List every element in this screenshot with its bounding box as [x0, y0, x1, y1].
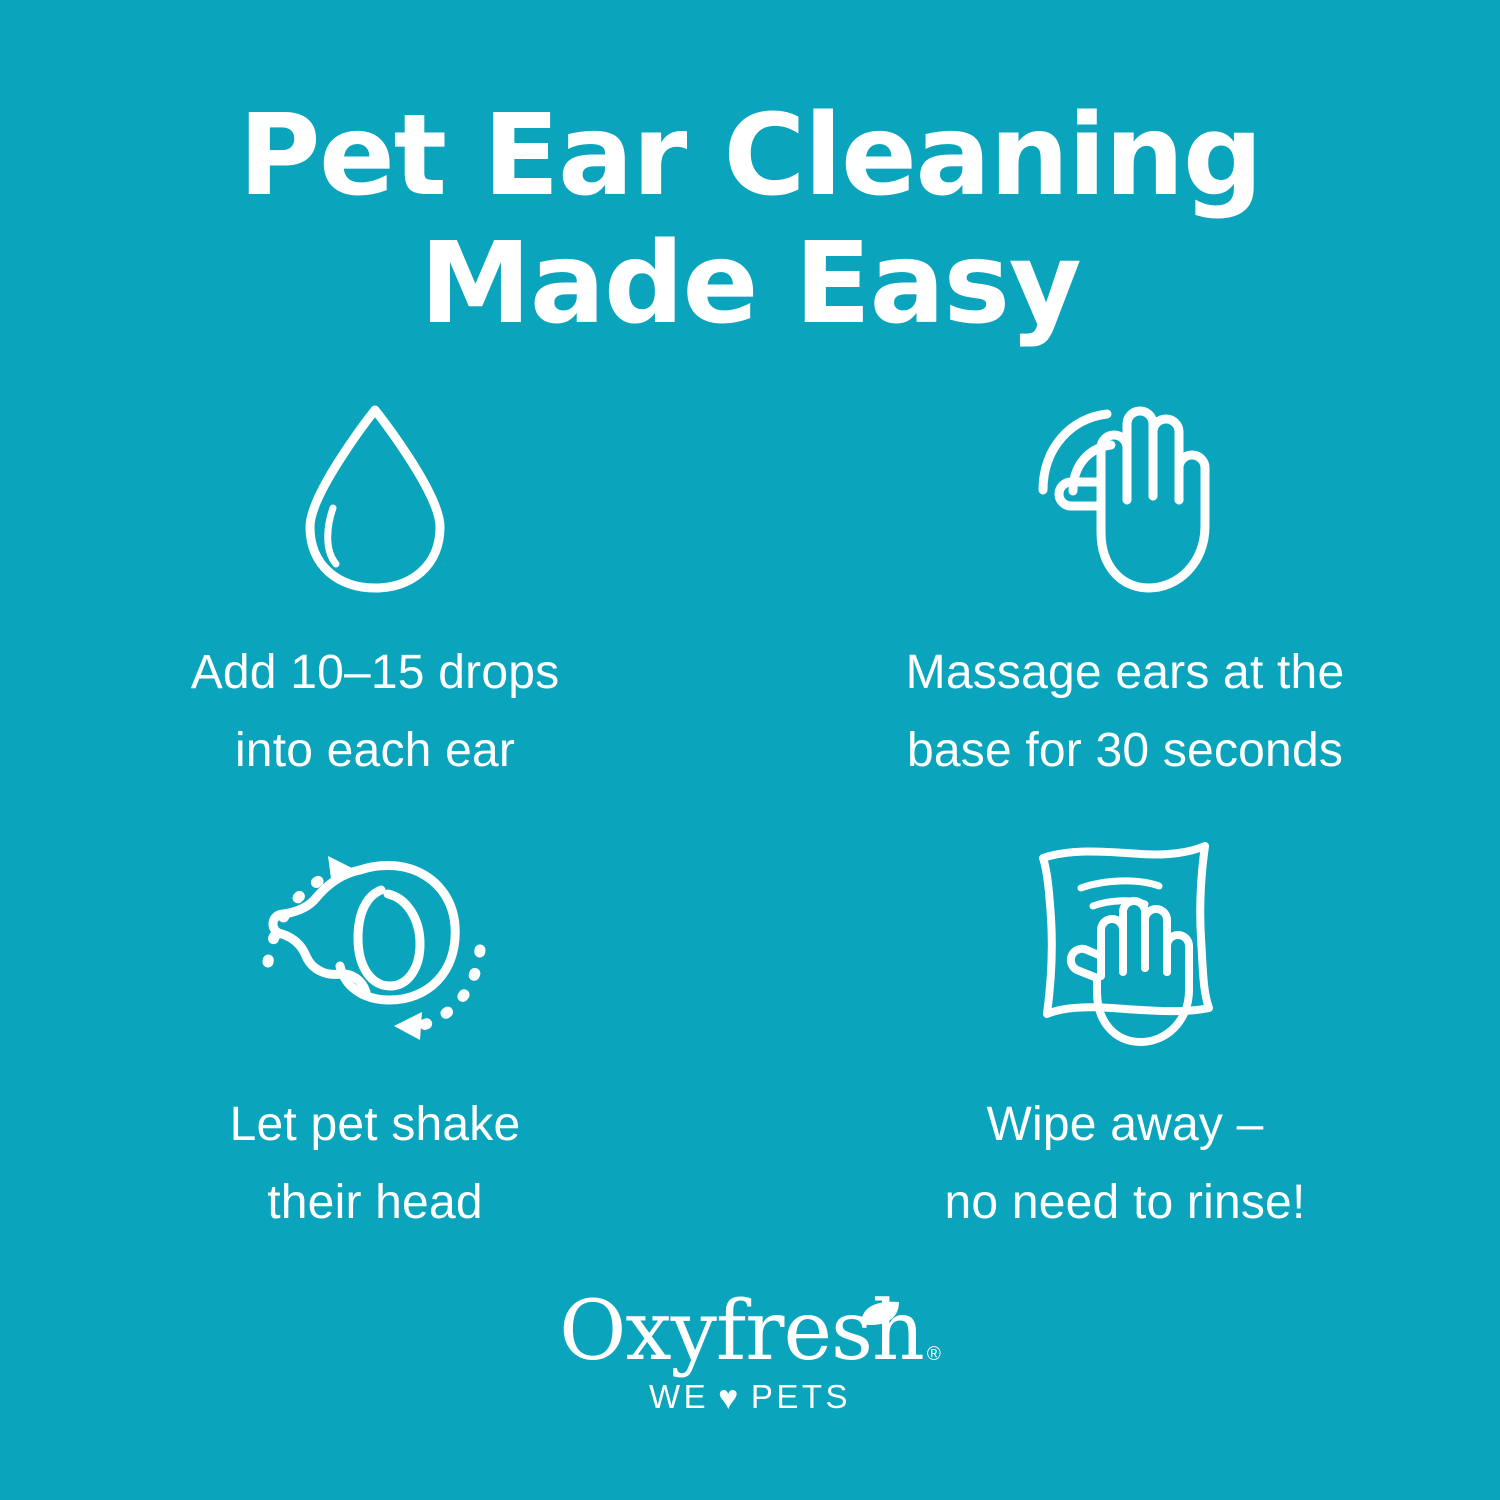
title-line-1: Pet Ear Cleaning	[0, 92, 1500, 220]
dog-head-shake-icon	[240, 826, 510, 1056]
step-caption-3-line-1: Let pet shake	[230, 1086, 521, 1164]
infographic-poster: Pet Ear Cleaning Made Easy Add 10–15 dro…	[0, 0, 1500, 1500]
logo-wordmark-wrap: Oxyfresh ®	[559, 1288, 941, 1376]
logo-tagline: WE ♥ PETS	[649, 1378, 851, 1416]
page-title: Pet Ear Cleaning Made Easy	[0, 92, 1500, 348]
step-caption-4-line-1: Wipe away –	[945, 1086, 1306, 1164]
step-caption-1: Add 10–15 drops into each ear	[191, 634, 560, 790]
step-item-1: Add 10–15 drops into each ear	[0, 396, 750, 826]
logo-wordmark: Oxyfresh	[559, 1288, 924, 1376]
registered-trademark-icon: ®	[927, 1344, 941, 1366]
step-item-3: Let pet shake their head	[0, 826, 750, 1256]
logo-tagline-prefix: WE	[649, 1378, 709, 1416]
step-caption-2-line-2: base for 30 seconds	[906, 712, 1345, 790]
step-caption-1-line-1: Add 10–15 drops	[191, 634, 560, 712]
step-caption-2: Massage ears at the base for 30 seconds	[906, 634, 1345, 790]
hand-wiping-cloth-icon	[1023, 826, 1228, 1056]
massaging-hand-icon	[1025, 396, 1225, 596]
step-caption-3: Let pet shake their head	[230, 1086, 521, 1242]
title-line-2: Made Easy	[0, 220, 1500, 348]
water-drop-icon	[290, 396, 460, 596]
step-caption-4: Wipe away – no need to rinse!	[945, 1086, 1306, 1242]
step-caption-1-line-2: into each ear	[191, 712, 560, 790]
heart-icon: ♥	[718, 1381, 742, 1415]
step-item-2: Massage ears at the base for 30 seconds	[750, 396, 1500, 826]
step-caption-4-line-2: no need to rinse!	[945, 1164, 1306, 1242]
steps-grid: Add 10–15 drops into each ear	[0, 396, 1500, 1256]
step-caption-3-line-2: their head	[230, 1164, 521, 1242]
brand-logo: Oxyfresh ® WE ♥ PETS	[0, 1288, 1500, 1416]
step-caption-2-line-1: Massage ears at the	[906, 634, 1345, 712]
logo-tagline-suffix: PETS	[751, 1378, 851, 1416]
step-item-4: Wipe away – no need to rinse!	[750, 826, 1500, 1256]
